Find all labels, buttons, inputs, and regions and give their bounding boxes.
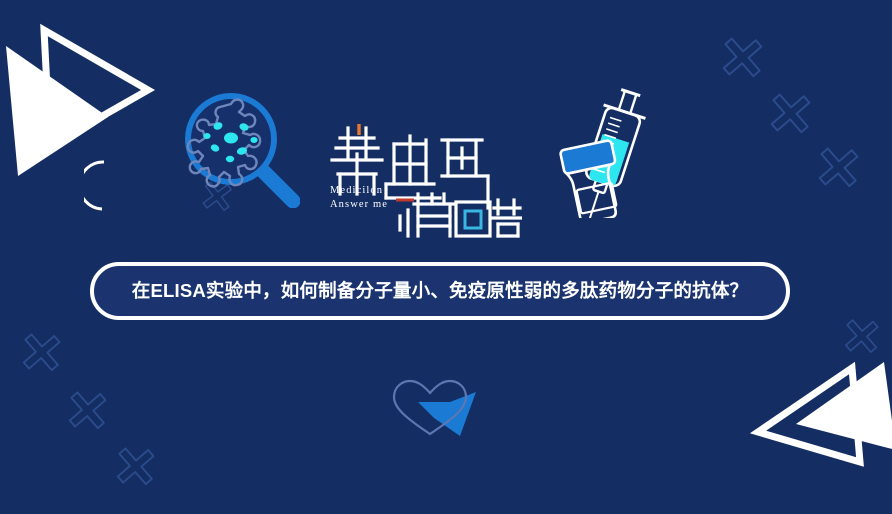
- x-cross-icon: [771, 94, 809, 132]
- logo-english-line-2: Answer me: [330, 198, 388, 212]
- logo-chinese-lettering: [322, 112, 522, 238]
- x-cross-icon: [117, 448, 154, 485]
- pulse-triangle-shape: [418, 392, 476, 436]
- magnifier-handle: [260, 168, 293, 201]
- x-cross-icon: [69, 392, 106, 429]
- x-cross-icon: [845, 320, 878, 353]
- syringe-vial-icon-group: [552, 82, 672, 218]
- banner-canvas: Medicilon Answer me 在ELISA实验中，如何制备分子量小、免…: [0, 0, 892, 514]
- x-cross-icon: [723, 38, 761, 76]
- logo-cyan-square: [465, 211, 481, 228]
- x-cross-icon: [23, 334, 60, 371]
- logo-english-line-1: Medicilon: [330, 184, 388, 198]
- x-cross-icon: [819, 148, 857, 186]
- logo-english-text: Medicilon Answer me: [330, 184, 388, 212]
- medicilon-answer-me-logo: Medicilon Answer me: [322, 112, 522, 238]
- question-pill: 在ELISA实验中，如何制备分子量小、免疫原性弱的多肽药物分子的抗体？: [90, 262, 790, 320]
- heart-pulse-icon: [388, 378, 484, 440]
- question-text: 在ELISA实验中，如何制备分子量小、免疫原性弱的多肽药物分子的抗体？: [132, 282, 748, 301]
- magnifier-virus-icon: [180, 88, 300, 208]
